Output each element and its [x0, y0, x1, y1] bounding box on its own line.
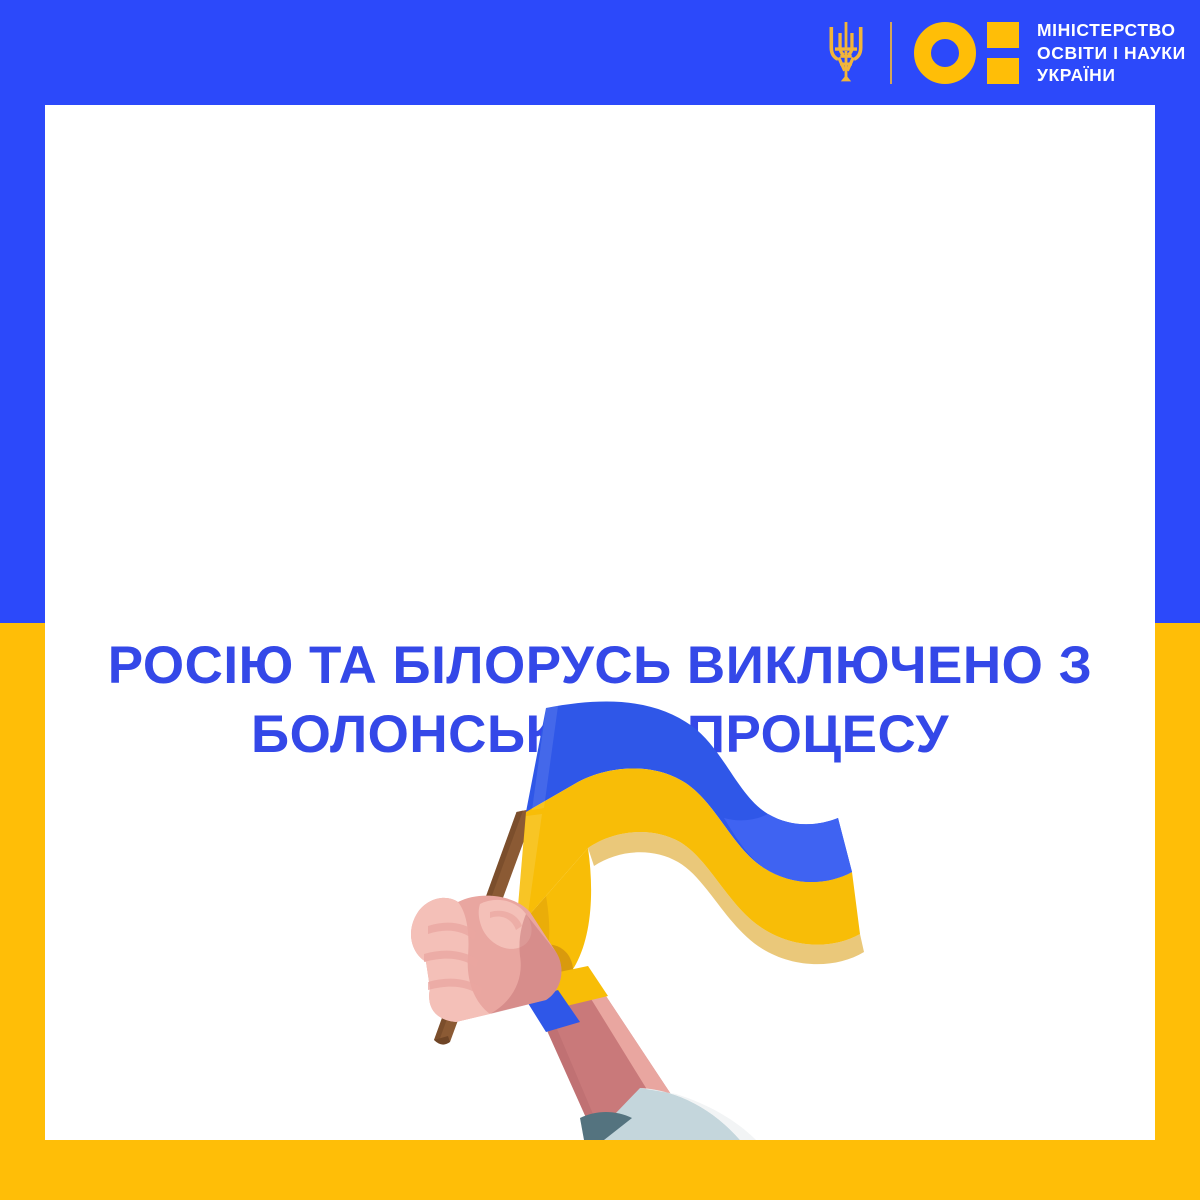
- ministry-name: МІНІСТЕРСТВО ОСВІТИ І НАУКИ УКРАЇНИ: [1037, 19, 1186, 87]
- mon-o-equals-mark: [914, 22, 1019, 84]
- ministry-name-line2: ОСВІТИ І НАУКИ: [1037, 42, 1186, 65]
- hand-holding-ukrainian-flag: [340, 690, 880, 1140]
- content-card: РОСІЮ ТА БІЛОРУСЬ ВИКЛЮЧЕНО З БОЛОНСЬКОГ…: [45, 105, 1155, 1140]
- flag-cloth: [515, 702, 864, 997]
- ministry-name-line3: УКРАЇНИ: [1037, 64, 1186, 87]
- logo-o-icon: [914, 22, 976, 84]
- logo-equals-icon: [987, 22, 1019, 84]
- ministry-logo-lockup: МІНІСТЕРСТВО ОСВІТИ І НАУКИ УКРАЇНИ: [824, 12, 1186, 94]
- poster-root: МІНІСТЕРСТВО ОСВІТИ І НАУКИ УКРАЇНИ РОСІ…: [0, 0, 1200, 1200]
- flag-illustration-svg: [340, 690, 880, 1140]
- logo-divider: [890, 22, 892, 84]
- ministry-name-line1: МІНІСТЕРСТВО: [1037, 19, 1186, 42]
- ukraine-trident-emblem: [824, 18, 868, 88]
